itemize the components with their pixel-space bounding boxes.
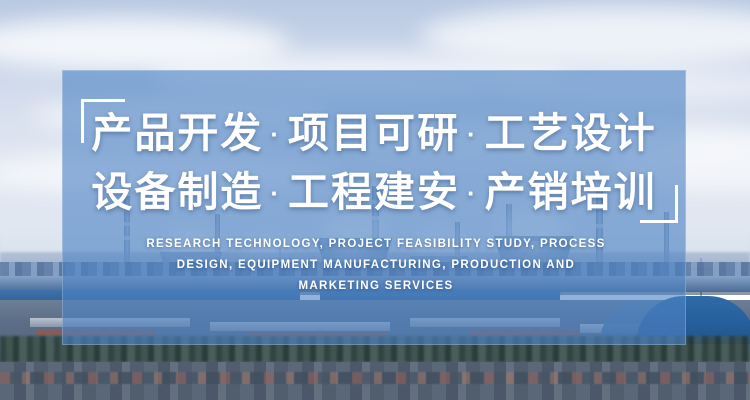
subtitle-line-1: RESEARCH TECHNOLOGY, PROJECT FEASIBILITY… [130, 234, 622, 255]
headline-separator: · [460, 119, 485, 149]
headline-line-1: 产品开发·项目可研·工艺设计 [62, 104, 686, 163]
headline: 产品开发·项目可研·工艺设计 设备制造·工程建安·产销培训 [62, 104, 686, 222]
headline-item: 产销培训 [485, 169, 657, 215]
headline-item: 工程建安 [288, 169, 460, 215]
headline-line-2: 设备制造·工程建安·产销培训 [62, 163, 686, 222]
headline-item: 项目可研 [288, 110, 460, 156]
headline-separator: · [460, 178, 485, 208]
railyard-detail [0, 372, 750, 384]
headline-item: 产品开发 [91, 110, 263, 156]
headline-item: 工艺设计 [485, 110, 657, 156]
headline-item: 设备制造 [91, 169, 263, 215]
headline-separator: · [263, 178, 288, 208]
subtitle-line-3: MARKETING SERVICES [130, 276, 622, 297]
subtitle-line-2: DESIGN, EQUIPMENT MANUFACTURING, PRODUCT… [130, 255, 622, 276]
headline-separator: · [263, 119, 288, 149]
promo-banner: 产品开发·项目可研·工艺设计 设备制造·工程建安·产销培训 RESEARCH T… [0, 0, 750, 400]
subtitle: RESEARCH TECHNOLOGY, PROJECT FEASIBILITY… [130, 234, 622, 297]
